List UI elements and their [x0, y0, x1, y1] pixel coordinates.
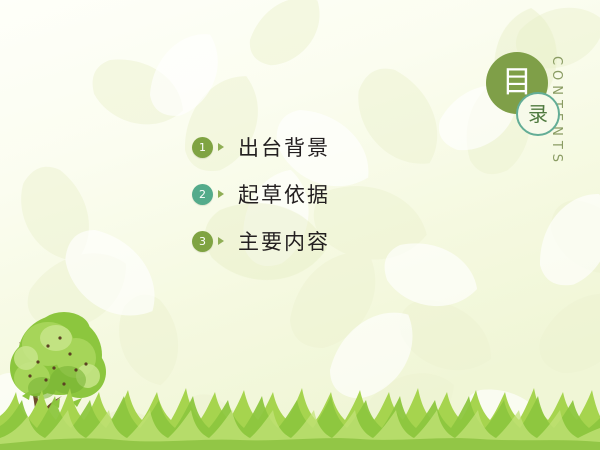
- chevron-right-icon-1: [218, 143, 224, 151]
- chevron-right-icon-3: [218, 237, 224, 245]
- menu-badge-2: 2: [192, 184, 213, 205]
- contents-menu: 1 出台背景 2 起草依据 3 主要内容: [192, 131, 452, 272]
- chevron-right-icon-2: [218, 190, 224, 198]
- menu-badge-1: 1: [192, 137, 213, 158]
- menu-badge-3: 3: [192, 231, 213, 252]
- slide-canvas: CONTENTS 目 录 1 出台背景 2 起草依据 3: [0, 0, 600, 450]
- menu-badge-3-number: 3: [199, 236, 206, 247]
- menu-item-3-label: 主要内容: [238, 226, 330, 256]
- emblem-secondary-char: 录: [528, 104, 548, 124]
- menu-item-2-label: 起草依据: [238, 179, 330, 209]
- menu-item-3[interactable]: 3 主要内容: [192, 225, 452, 257]
- contents-emblem: CONTENTS 目 录: [472, 52, 582, 177]
- menu-badge-1-number: 1: [199, 142, 206, 153]
- menu-badge-2-number: 2: [199, 189, 206, 200]
- menu-item-2[interactable]: 2 起草依据: [192, 178, 452, 210]
- grass-band: [0, 376, 600, 450]
- menu-item-1[interactable]: 1 出台背景: [192, 131, 452, 163]
- emblem-secondary-circle: 录: [516, 92, 560, 136]
- menu-item-1-label: 出台背景: [238, 132, 330, 162]
